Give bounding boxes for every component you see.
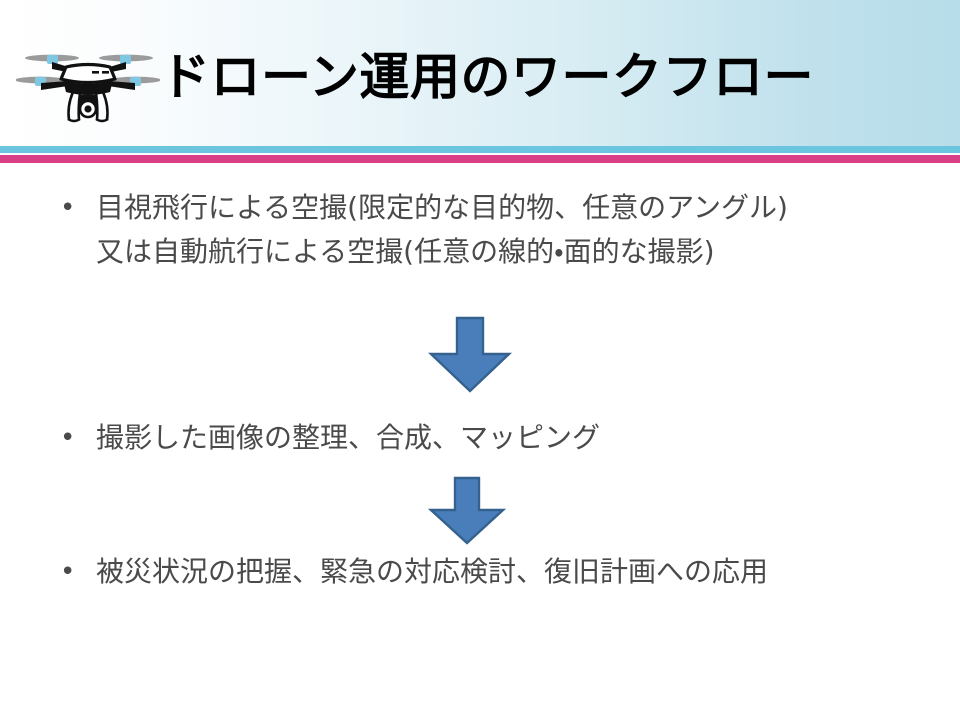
- drone-icon: [16, 38, 160, 124]
- bullet-item-3: • 被災状況の把握、緊急の対応検討、復旧計画への応用: [60, 550, 940, 594]
- bullet-marker: •: [60, 186, 96, 230]
- divider-line-pink: [0, 155, 960, 163]
- page-title: ドローン運用のワークフロー: [160, 37, 950, 117]
- arrow-down-icon: [428, 476, 506, 546]
- bullet-marker: •: [60, 550, 96, 594]
- bullet-text-3: 被災状況の把握、緊急の対応検討、復旧計画への応用: [96, 550, 940, 594]
- bullet-marker: •: [60, 416, 96, 460]
- bullet-item-2: • 撮影した画像の整理、合成、マッピング: [60, 416, 940, 460]
- arrow-down-icon: [428, 316, 512, 394]
- bullet-text-1: 目視飛行による空撮(限定的な目的物、任意のアングル) 又は自動航行による空撮(任…: [96, 186, 940, 274]
- bullet-item-1: • 目視飛行による空撮(限定的な目的物、任意のアングル) 又は自動航行による空撮…: [60, 186, 940, 274]
- divider-line-blue: [0, 146, 960, 153]
- bullet-text-2: 撮影した画像の整理、合成、マッピング: [96, 416, 940, 460]
- slide-canvas: ドローン運用のワークフロー • 目視飛行による空撮(限定的な目的物、任意のアング…: [0, 0, 960, 720]
